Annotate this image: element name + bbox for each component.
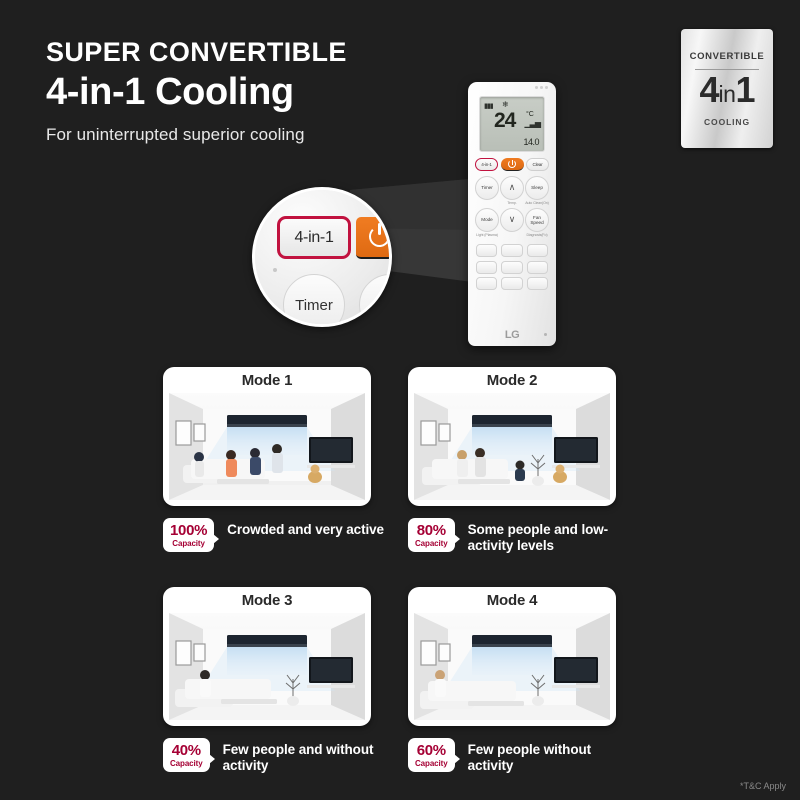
power-icon-bar	[512, 160, 513, 165]
capacity-label: Capacity	[170, 759, 203, 768]
capacity-label: Capacity	[415, 539, 448, 548]
remote-speaker-dots-icon	[535, 86, 548, 89]
remote-timer-button[interactable]: Timer	[475, 176, 499, 200]
mode-card-2: Mode 2	[408, 367, 616, 506]
remote-lcd-display: ▮▮▮ ❄ 24 °C ▁▃▅ 14.0	[479, 96, 545, 152]
magnifier-callout: 4-in-1 Timer	[252, 187, 392, 327]
capacity-percent: 100%	[170, 523, 207, 538]
remote-keypad	[474, 244, 550, 290]
capacity-caption-3: 40% Capacity Few people and without acti…	[163, 738, 388, 775]
room-svg	[169, 393, 365, 500]
headline-kicker: SUPER CONVERTIBLE	[46, 38, 347, 66]
remote-temp-up-button[interactable]: ∧	[500, 176, 524, 200]
mode-card-1: Mode 1	[163, 367, 371, 506]
remote-keypad-button[interactable]	[527, 277, 548, 290]
remote-mode-button[interactable]: Mode	[475, 208, 499, 232]
badge-main-text: 4in1	[700, 72, 755, 108]
remote-keypad-button[interactable]	[476, 244, 497, 257]
capacity-caption-2: 80% Capacity Some people and low-activit…	[408, 518, 623, 555]
room-illustration	[169, 393, 365, 500]
capacity-badge: 100% Capacity	[163, 518, 214, 552]
remote-keypad-button[interactable]	[527, 261, 548, 274]
capacity-description: Few people without activity	[468, 742, 623, 775]
remote-temp-up-column: ∧ Temp.	[500, 176, 524, 205]
magnified-timer-button[interactable]: Timer	[283, 274, 345, 327]
mode-card-title: Mode 3	[163, 592, 371, 609]
power-icon-bar	[378, 223, 381, 235]
lcd-temperature-unit: °C	[526, 111, 534, 118]
remote-autoclean-sublabel: Auto Clean(On)	[525, 201, 549, 205]
headline-block: SUPER CONVERTIBLE 4-in-1 Cooling For uni…	[46, 38, 347, 145]
snowflake-icon: ❄	[502, 101, 509, 109]
room-svg	[414, 393, 610, 500]
convertible-badge: CONVERTIBLE 4in1 COOLING	[681, 29, 773, 148]
capacity-percent: 60%	[415, 743, 448, 758]
capacity-description: Some people and low-activity levels	[468, 522, 623, 555]
badge-top-label: CONVERTIBLE	[690, 51, 765, 62]
mode-card-title: Mode 4	[408, 592, 616, 609]
remote-surface-dot-icon	[273, 268, 277, 272]
magnified-4in1-button[interactable]: 4-in-1	[277, 216, 351, 259]
remote-clear-button[interactable]: Clear	[526, 158, 549, 171]
remote-button-row-3: Mode Light (Plasma) ∨ Fan Speed Diagnosi…	[474, 208, 550, 237]
signal-bars-icon: ▁▃▅	[525, 119, 540, 128]
remote-mode-column: Mode Light (Plasma)	[475, 208, 499, 237]
magnified-power-button[interactable]	[356, 217, 392, 259]
mode-bars-icon: ▮▮▮	[484, 102, 493, 110]
remote-button-row-1: 4-in-1 Clear	[474, 158, 550, 171]
remote-keypad-button[interactable]	[476, 261, 497, 274]
headline-subtitle: For uninterrupted superior cooling	[46, 125, 347, 145]
remote-keypad-button[interactable]	[501, 261, 522, 274]
page-title: 4-in-1 Cooling	[46, 70, 347, 115]
lg-logo: LG	[468, 329, 556, 341]
remote-keypad-button[interactable]	[501, 277, 522, 290]
mode-card-title: Mode 1	[163, 372, 371, 389]
footnote: *T&C Apply	[740, 781, 786, 791]
remote-4in1-button[interactable]: 4-in-1	[475, 158, 498, 171]
room-illustration	[414, 393, 610, 500]
capacity-badge: 40% Capacity	[163, 738, 210, 772]
capacity-caption-1: 100% Capacity Crowded and very active	[163, 518, 388, 552]
capacity-percent: 80%	[415, 523, 448, 538]
capacity-percent: 40%	[170, 743, 203, 758]
badge-number-4: 4	[700, 72, 719, 108]
remote-button-row-2: Timer ∧ Temp. Sleep Auto Clean(On)	[474, 176, 550, 205]
mode-card-4: Mode 4	[408, 587, 616, 726]
capacity-badge: 60% Capacity	[408, 738, 455, 772]
remote-keypad-button[interactable]	[501, 244, 522, 257]
remote-keypad-button[interactable]	[527, 244, 548, 257]
badge-word-in: in	[719, 83, 736, 106]
badge-number-1: 1	[735, 72, 754, 108]
remote-light-sublabel: Light (Plasma)	[476, 233, 498, 237]
room-illustration	[169, 613, 365, 720]
remote-sleep-button[interactable]: Sleep	[525, 176, 549, 200]
remote-temp-down-button[interactable]: ∨	[500, 208, 524, 232]
capacity-label: Capacity	[170, 539, 207, 548]
room-illustration	[414, 613, 610, 720]
lcd-sub-readout: 14.0	[523, 137, 539, 147]
capacity-description: Few people and without activity	[223, 742, 388, 775]
capacity-badge: 80% Capacity	[408, 518, 455, 552]
room-svg	[169, 613, 365, 720]
remote-temp-sublabel: Temp.	[507, 201, 516, 205]
lcd-temperature: 24	[494, 110, 515, 131]
remote-sleep-column: Sleep Auto Clean(On)	[525, 176, 549, 205]
remote-fanspeed-column: Fan Speed Diagnosis(Fo)	[525, 208, 549, 237]
remote-timer-column: Timer	[475, 176, 499, 205]
remote-fanspeed-button[interactable]: Fan Speed	[525, 208, 549, 232]
capacity-label: Capacity	[415, 759, 448, 768]
lg-remote-control: ▮▮▮ ❄ 24 °C ▁▃▅ 14.0 4-in-1 Clear Timer …	[468, 82, 556, 346]
remote-diagnosis-sublabel: Diagnosis(Fo)	[526, 233, 547, 237]
mode-card-3: Mode 3	[163, 587, 371, 726]
remote-power-button[interactable]	[501, 158, 524, 171]
capacity-description: Crowded and very active	[227, 522, 384, 538]
remote-keypad-button[interactable]	[476, 277, 497, 290]
badge-bottom-label: COOLING	[704, 117, 750, 127]
remote-temp-down-column: ∨	[500, 208, 524, 237]
room-svg	[414, 613, 610, 720]
mode-card-title: Mode 2	[408, 372, 616, 389]
capacity-caption-4: 60% Capacity Few people without activity	[408, 738, 623, 775]
